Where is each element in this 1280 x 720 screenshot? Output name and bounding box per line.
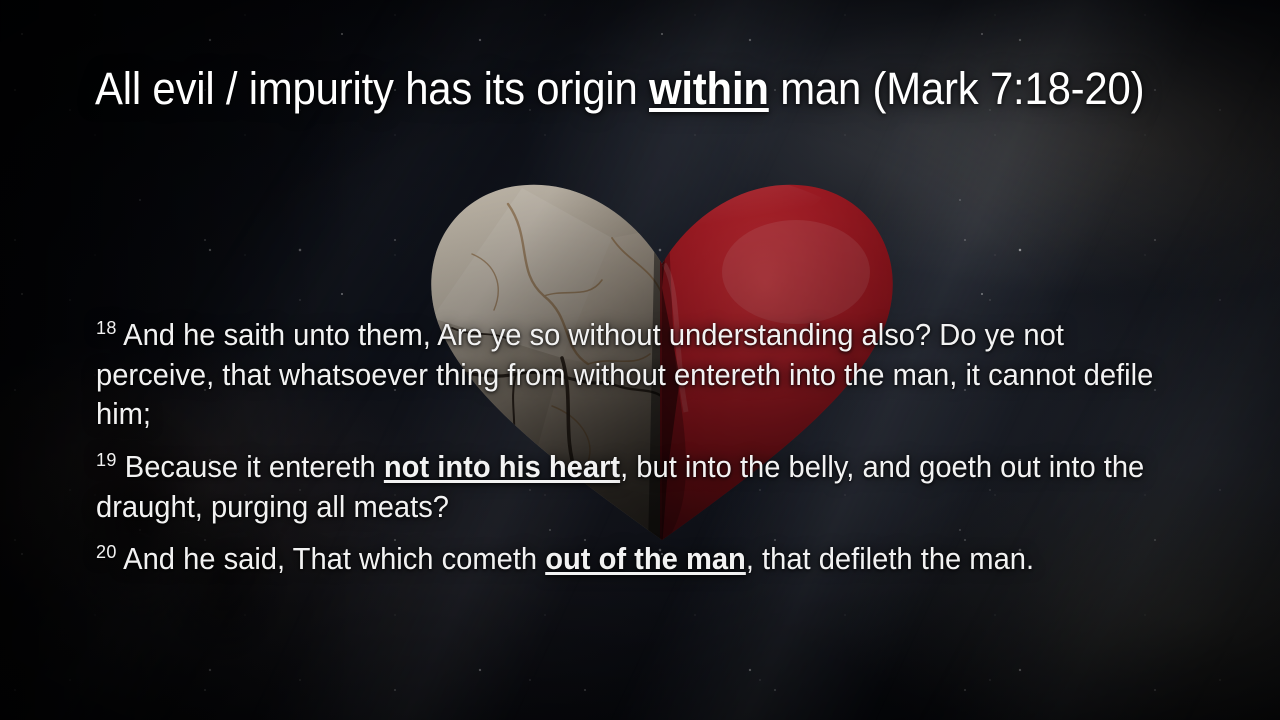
verse-number: 19: [96, 450, 117, 471]
verse-18: 18 And he saith unto them, Are ye so wit…: [96, 316, 1164, 435]
scripture-body: 18 And he saith unto them, Are ye so wit…: [96, 316, 1164, 580]
verse-19: 19 Because it entereth not into his hear…: [96, 448, 1164, 527]
verse-text-0: And he said, That which cometh: [123, 542, 545, 576]
title-text-before: All evil / impurity has its origin: [95, 63, 649, 114]
title-emphasis-within: within: [649, 63, 769, 114]
verse-emphasis: out of the man: [545, 542, 746, 576]
verse-text-0: Because it entereth: [125, 450, 384, 484]
presentation-slide: All evil / impurity has its origin withi…: [0, 0, 1280, 720]
verse-text-2: , that defileth the man.: [746, 542, 1034, 576]
verse-number: 20: [96, 542, 117, 563]
verse-20: 20 And he said, That which cometh out of…: [96, 540, 1164, 580]
verse-emphasis: not into his heart: [384, 450, 620, 484]
slide-title: All evil / impurity has its origin withi…: [95, 62, 1127, 115]
verse-text-0: And he saith unto them, Are ye so withou…: [96, 318, 1153, 431]
title-text-after: man (Mark 7:18-20): [769, 63, 1145, 114]
verse-number: 18: [96, 318, 117, 339]
